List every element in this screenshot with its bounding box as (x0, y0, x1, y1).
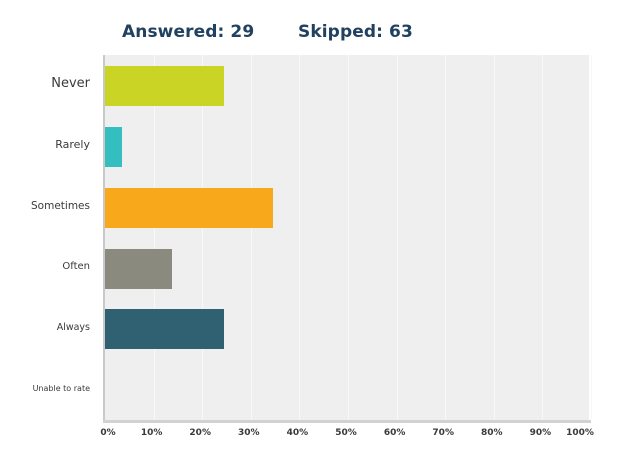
x-axis-labels: 0%10%20%30%40%50%60%70%80%90%100% (103, 428, 589, 448)
x-tick-10: 10% (141, 428, 163, 438)
bar-chart-plot-area (103, 55, 589, 420)
bar-row (105, 238, 589, 299)
x-tick-50: 50% (335, 428, 357, 438)
x-tick-30: 30% (238, 428, 260, 438)
x-tick-90: 90% (530, 428, 552, 438)
x-tick-60: 60% (384, 428, 406, 438)
bar-row (105, 55, 589, 116)
category-label-never: Never (0, 76, 99, 91)
category-label-rarely: Rarely (0, 138, 99, 151)
category-label-often: Often (0, 261, 99, 272)
x-tick-40: 40% (287, 428, 309, 438)
gridline-100 (591, 55, 592, 420)
answered-count: Answered: 29 (122, 22, 254, 42)
bars-layer (105, 55, 589, 420)
category-label-unable-to-rate: Unable to rate (0, 384, 99, 393)
bar-sometimes[interactable] (105, 188, 273, 228)
y-axis-labels: NeverRarelySometimesOftenAlwaysUnable to… (0, 55, 99, 420)
bar-row (105, 177, 589, 238)
skipped-count: Skipped: 63 (298, 22, 413, 42)
bar-rarely[interactable] (105, 127, 122, 167)
bar-row (105, 359, 589, 420)
bar-row (105, 116, 589, 177)
bar-often[interactable] (105, 249, 172, 289)
summary-header: Answered: 29 Skipped: 63 (0, 22, 618, 48)
x-tick-0: 0% (100, 428, 115, 438)
x-tick-70: 70% (432, 428, 454, 438)
bar-always[interactable] (105, 309, 224, 349)
x-tick-20: 20% (189, 428, 211, 438)
x-tick-100: 100% (566, 428, 594, 438)
category-label-always: Always (0, 322, 99, 333)
bar-row (105, 298, 589, 359)
category-label-sometimes: Sometimes (0, 200, 99, 212)
bar-never[interactable] (105, 66, 224, 106)
x-tick-80: 80% (481, 428, 503, 438)
